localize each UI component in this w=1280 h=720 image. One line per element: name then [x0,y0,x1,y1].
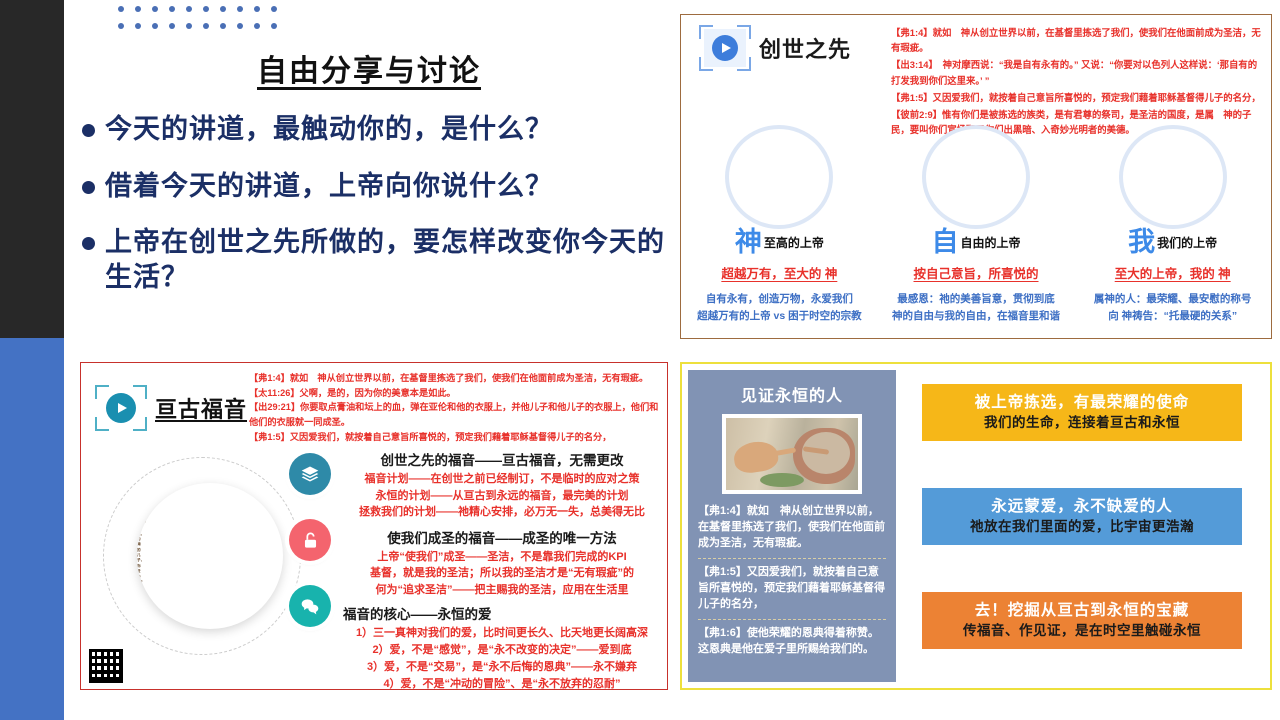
divider [698,619,886,620]
creation-of-adam-image [722,414,862,494]
summary-highlight: 按自己意旨，所喜悦的 [882,263,1071,282]
icon-column [289,453,335,651]
band-line-primary: 被上帝拣选，有最荣耀的使命 [928,393,1236,414]
callout-bands: 被上帝拣选，有最荣耀的使命 我们的生命，连接着亘古和永恒 永远蒙爱，永不缺爱的人… [904,370,1264,682]
eternal-gospel-card: 亘古福音 【弗1:4】就如 神从创立世界以前，在基督里拣选了我们，使我们在他面前… [80,362,668,690]
summary-big-char: 我 [1128,229,1155,256]
verse-line: 【弗1:6】使他荣耀的恩典得着称赞。这恩典是他在爱子里所赐给我们的。 [698,626,886,658]
card-logo-label: 创世之先 [759,32,851,64]
corner-mark [133,417,147,431]
corner-mark [737,57,751,71]
verse-line: 【弗1:5】又因爱我们，就按着自己意旨所喜悦的，预定我们藉着耶稣基督得儿子的名分… [891,90,1263,105]
summary-note: 神的自由与我的自由，在福音里和谐 [882,308,1071,325]
summary-note: 自有永有，创造万物，永爱我们 [685,291,874,308]
summary-subtitle: 自由的上帝 [961,234,1021,251]
eternal-witness-card: 见证永恒的人 【弗1:4】就如 神从创立世界以前，在基督里拣选了我们，使我们在他… [680,362,1272,690]
section-list: 1）三一真神对我们的爱，比时间更长久、比天地更长阔高深 2）爱，不是“感觉”，是… [343,625,661,693]
three-column-summary: 神至高的上帝 超越万有，至大的 神 自有永有，创造万物，永爱我们 超越万有的上帝… [681,229,1271,326]
play-circle-icon [106,393,136,423]
card-logo-row: 亘古福音 [95,385,247,431]
summary-column-me: 我我们的上帝 至大的上帝，我的 神 属神的人：最荣耀、最安慰的称号 向 神祷告：… [1074,229,1271,326]
corner-mark [95,417,109,431]
list-item-label: 上帝在创世之先所做的，要怎样改变你今天的生活？ [105,225,668,294]
summary-note: 属神的人：最荣耀、最安慰的称号 [1078,291,1267,308]
dot [220,6,226,12]
dot [169,6,175,12]
section-line: 3）爱，不是“交易”，是“永不后悔的恩典”——永不嫌弃 [343,659,661,676]
callout-band-love: 永远蒙爱，永不缺爱的人 祂放在我们里面的爱，比宇宙更浩瀚 [922,488,1242,545]
summary-highlight: 超越万有，至大的 神 [685,263,874,282]
corner-mark [699,25,713,39]
illustration-row [681,127,1271,227]
dot [237,6,243,12]
band-line-primary: 永远蒙爱，永不缺爱的人 [928,497,1236,518]
play-button-icon [699,25,751,71]
dot [203,6,209,12]
band-line-secondary: 祂放在我们里面的爱，比宇宙更浩瀚 [928,518,1236,536]
section-line: 上帝“使我们”成圣——圣洁，不是靠我们完成的KPI [343,549,661,566]
qr-code-icon[interactable] [89,649,123,683]
list-item: 今天的讲道，最触动你的，是什么？ [82,112,668,147]
band-line-primary: 去！挖掘从亘古到永恒的宝藏 [928,601,1236,622]
section-line: 2）爱，不是“感觉”，是“永不改变的决定”——爱到底 [343,642,661,659]
callout-band-treasure: 去！挖掘从亘古到永恒的宝藏 传福音、作见证，是在时空里触碰永恒 [922,592,1242,649]
left-strip-blue [0,338,64,720]
verse-line: 【弗1:4】就如 神从创立世界以前，在基督里拣选了我们，使我们在他面前成为圣洁，… [891,25,1263,55]
section-line: 1）三一真神对我们的爱，比时间更长久、比天地更长阔高深 [343,625,661,642]
list-item: 借着今天的讲道，上帝向你说什么？ [82,169,668,204]
dot [254,6,260,12]
raised-hand-image [1129,135,1217,219]
summary-heading: 自自由的上帝 [882,229,1071,256]
verse-line: 【弗1:5】又因爱我们，就按着自己意旨所喜悦的，预定我们藉着耶稣基督得儿子的名分… [698,565,886,613]
summary-column-god: 神至高的上帝 超越万有，至大的 神 自有永有，创造万物，永爱我们 超越万有的上帝… [681,229,878,326]
dot [118,6,124,12]
summary-heading: 神至高的上帝 [685,229,874,256]
illustration-freedom [926,129,1026,225]
corner-mark [737,25,751,39]
layers-icon [289,453,331,495]
bullet-icon [82,181,95,194]
starry-sky-image [735,135,823,219]
play-button-icon [95,385,147,431]
summary-heading: 我我们的上帝 [1078,229,1267,256]
summary-note: 超越万有的上帝 vs 困于时空的宗教 [685,308,874,325]
summary-note: 最感恩：祂的美善旨意，贯彻到底 [882,291,1071,308]
jesus-peter-image: "Simon, son of John, do you love Me?" 西门… [137,483,283,629]
summary-subtitle: 我们的上帝 [1157,234,1217,251]
section-heading: 福音的核心——永恒的爱 [343,603,661,623]
discussion-list: 今天的讲道，最触动你的，是什么？ 借着今天的讲道，上帝向你说什么？ 上帝在创世之… [64,112,674,294]
dot [135,6,141,12]
corner-mark [699,57,713,71]
cross-at-dusk-image [932,135,1020,219]
section-line: 拯救我们的计划——祂精心安排，必万无一失，总美得无比 [343,504,661,521]
verse-block: 【弗1:4】就如 神从创立世界以前，在基督里拣选了我们，使我们在他面前成为圣洁，… [249,371,659,445]
list-item: 上帝在创世之先所做的，要怎样改变你今天的生活？ [82,225,668,294]
summary-subtitle: 至高的上帝 [764,234,824,251]
adam-figure-shape [732,440,780,476]
dot [186,6,192,12]
verse-line: 【出3:14】 神对摩西说：“我是自有永有的。” 又说：“你要对以色列人这样说：… [891,57,1263,87]
page-title: 自由分享与讨论 [64,46,674,90]
left-strip-dark [0,0,64,338]
section-heading: 使我们成圣的福音——成圣的唯一方法 [343,527,661,547]
summary-note: 向 神祷告：“托最硬的关系” [1078,308,1267,325]
corner-mark [95,385,109,399]
creation-before-card: 创世之先 【弗1:4】就如 神从创立世界以前，在基督里拣选了我们，使我们在他面前… [680,14,1272,339]
dot [271,6,277,12]
slide-root: 自由分享与讨论 今天的讲道，最触动你的，是什么？ 借着今天的讲道，上帝向你说什么… [0,0,1280,720]
verse-line: 【出29:21】你要取点膏油和坛上的血，弹在亚伦和他的衣服上，并他儿子和他儿子的… [249,400,659,429]
section-line: 4）爱，不是“冲动的冒险”、是“永不放弃的忍耐” [343,676,661,693]
verse-line: 【太11:26】父啊，是的，因为你的美意本是如此。 [249,386,659,401]
band-line-secondary: 我们的生命，连接着亘古和永恒 [928,414,1236,432]
summary-big-char: 神 [735,229,762,256]
verse-line: 【弗1:5】又因爱我们，就按着自己意旨所喜悦的，预定我们藉着耶稣基督得儿子的名分… [249,430,659,445]
ground-shape [760,473,804,487]
verse-line: 【弗1:4】就如 神从创立世界以前，在基督里拣选了我们，使我们在他面前成为圣洁，… [249,371,659,386]
gospel-diagram: "Simon, son of John, do you love Me?" 西门… [81,449,667,689]
panel-title: 见证永恒的人 [698,382,886,406]
section-line: 福音计划——在创世之前已经制订，不是临时的应对之策 [343,471,661,488]
bullet-icon [82,124,95,137]
dot [152,6,158,12]
card-logo-label: 亘古福音 [155,392,247,424]
discussion-panel: 自由分享与讨论 今天的讲道，最触动你的，是什么？ 借着今天的讲道，上帝向你说什么… [64,20,674,340]
unlock-icon [289,519,331,561]
section-line: 基督，就是我的圣洁；所以我的圣洁才是“无有瑕疵”的 [343,565,661,582]
callout-band-mission: 被上帝拣选，有最荣耀的使命 我们的生命，连接着亘古和永恒 [922,384,1242,441]
section-line: 永恒的计划——从亘古到永远的福音，最完美的计划 [343,488,661,505]
divider [698,558,886,559]
section-heading: 创世之先的福音——亘古福音，无需更改 [343,449,661,469]
bullet-icon [82,237,95,250]
section-line: 何为“追求圣洁”——把主赐我的圣洁，应用在生活里 [343,582,661,599]
play-circle-icon [712,35,738,61]
summary-column-freedom: 自自由的上帝 按自己意旨，所喜悦的 最感恩：祂的美善旨意，贯彻到底 神的自由与我… [878,229,1075,326]
play-triangle-icon [118,403,127,413]
play-triangle-icon [722,43,731,53]
summary-highlight: 至大的上帝，我的 神 [1078,263,1267,282]
witness-panel: 见证永恒的人 【弗1:4】就如 神从创立世界以前，在基督里拣选了我们，使我们在他… [688,370,896,682]
summary-big-char: 自 [932,229,959,256]
list-item-label: 今天的讲道，最触动你的，是什么？ [105,112,553,147]
band-line-secondary: 传福音、作见证，是在时空里触碰永恒 [928,622,1236,640]
verse-line: 【弗1:4】就如 神从创立世界以前，在基督里拣选了我们，使我们在他面前成为圣洁，… [698,504,886,552]
chat-icon [289,585,331,627]
gospel-sections: 创世之先的福音——亘古福音，无需更改 福音计划——在创世之前已经制订，不是临时的… [343,449,661,693]
illustration-god [729,129,829,225]
corner-mark [133,385,147,399]
list-item-label: 借着今天的讲道，上帝向你说什么？ [105,169,553,204]
dot-row [118,6,277,12]
verse-block: 【弗1:4】就如 神从创立世界以前，在基督里拣选了我们，使我们在他面前成为圣洁，… [891,25,1263,140]
illustration-me [1123,129,1223,225]
